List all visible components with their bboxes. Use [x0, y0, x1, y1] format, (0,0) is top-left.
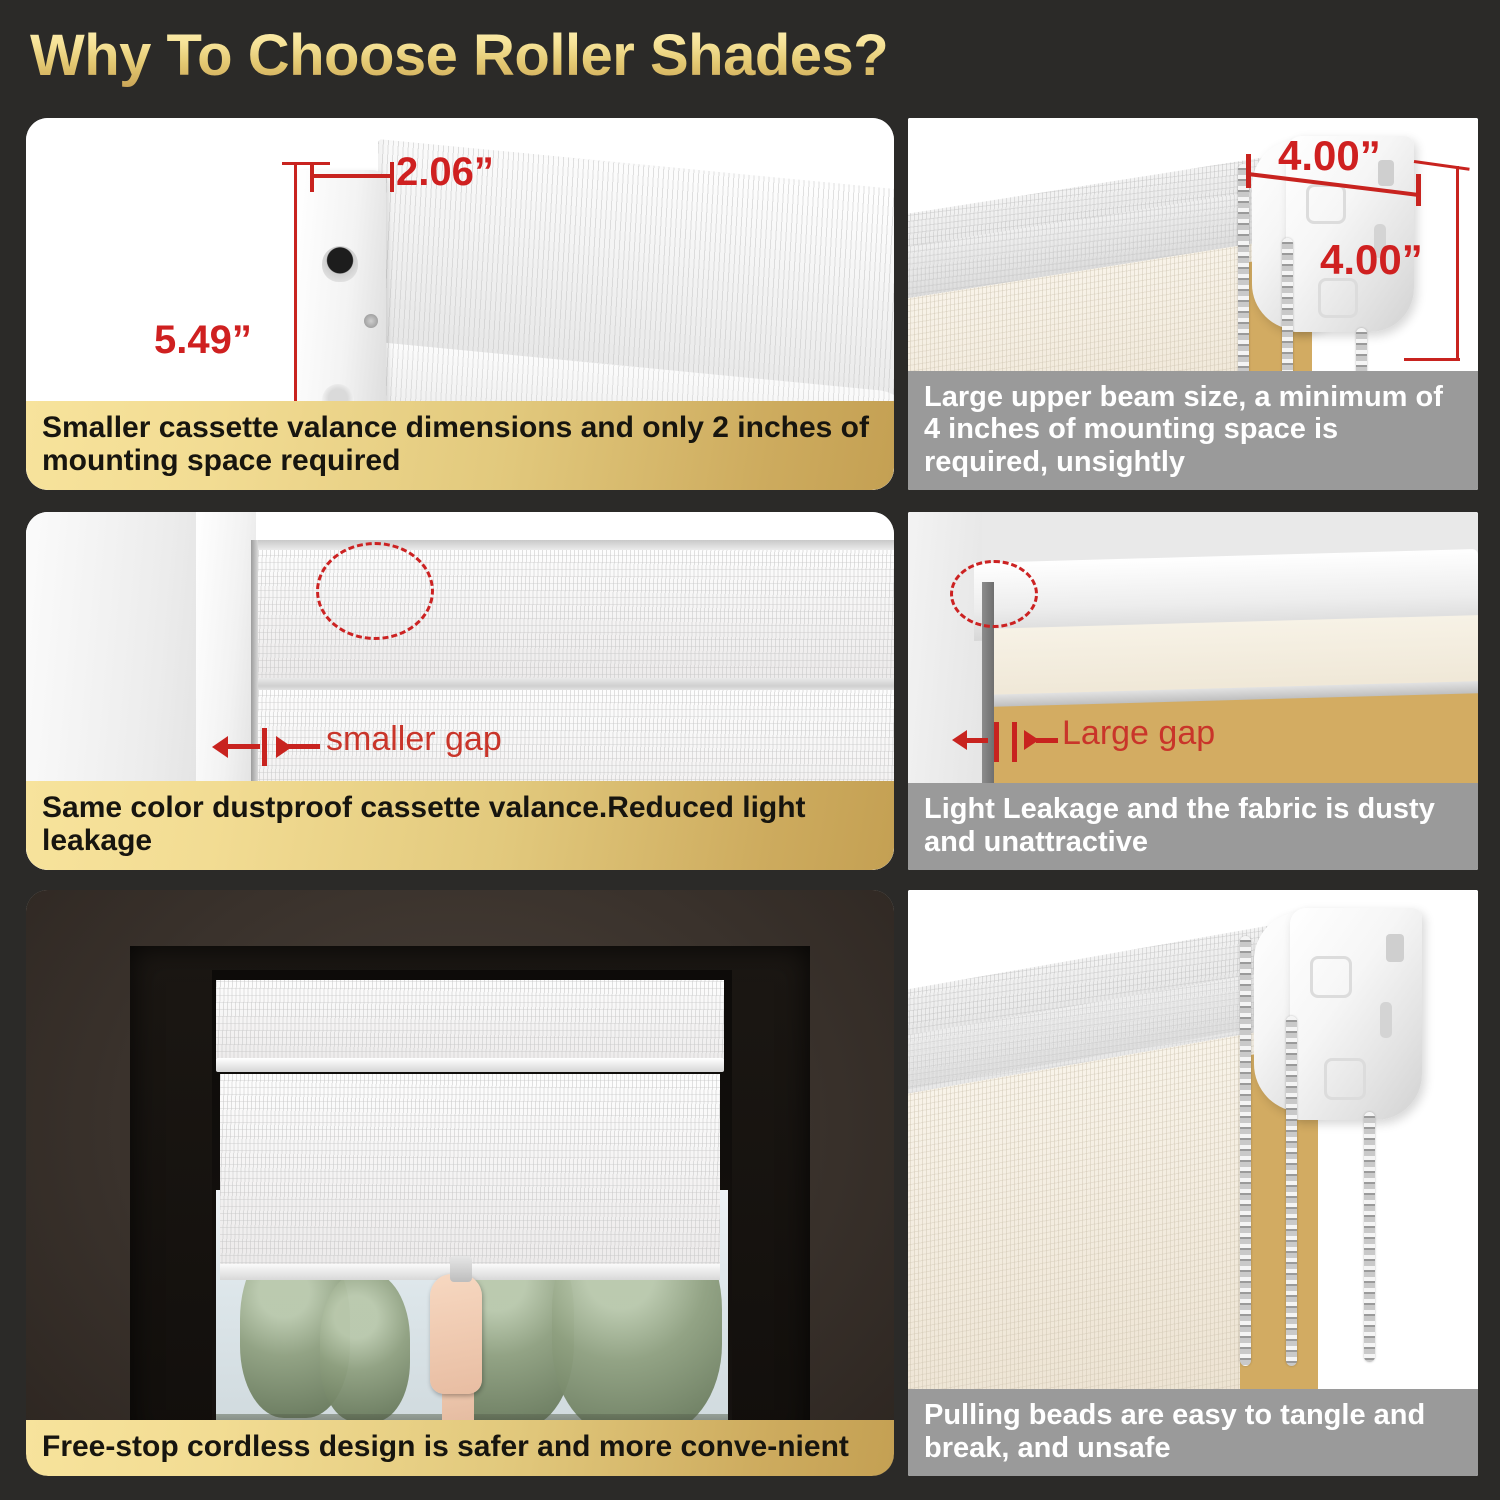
gap-arrow-right-shaft: [288, 744, 320, 749]
dimension-label-height: 5.49”: [154, 318, 252, 363]
bracket-emboss-bottom: [1324, 1058, 1366, 1100]
bead-chain-left: [1240, 936, 1251, 1366]
panel-caption: Large upper beam size, a minimum of 4 in…: [908, 371, 1478, 490]
highlight-ellipse-icon: [316, 542, 434, 640]
bracket-emboss-top: [1310, 956, 1352, 998]
gap-tick-left: [994, 722, 999, 762]
comparison-panel-smaller-gap: smaller gap Same color dustproof cassett…: [26, 512, 894, 870]
bracket-hole: [322, 246, 358, 282]
comparison-panel-cassette-dimensions: 2.06” 5.49” Smaller cassette valance dim…: [26, 118, 894, 490]
dim-line-horizontal: [312, 174, 394, 178]
gap-arrow-left-head-icon: [212, 736, 228, 758]
dim-cap-bottom: [1404, 358, 1460, 361]
pull-tab: [450, 1256, 472, 1282]
gap-label: smaller gap: [326, 720, 502, 759]
gap-arrow-left-shaft: [964, 738, 988, 743]
comparison-panel-pulling-beads: Pulling beads are easy to tangle and bre…: [908, 890, 1478, 1476]
panel-caption: Pulling beads are easy to tangle and bre…: [908, 1389, 1478, 1476]
gap-label: Large gap: [1062, 714, 1215, 753]
highlight-ellipse-icon: [950, 560, 1038, 628]
shade-fabric: [220, 1074, 720, 1270]
bracket-slot-top: [1386, 934, 1404, 962]
dimension-label-width: 2.06”: [396, 150, 494, 195]
dimension-label-height: 4.00”: [1320, 236, 1423, 284]
bead-chain-mid: [1286, 1016, 1297, 1366]
panel-caption: Light Leakage and the fabric is dusty an…: [908, 783, 1478, 870]
cassette-valance: [216, 980, 724, 1066]
dim-tick-right: [1416, 174, 1421, 206]
gap-tick: [262, 728, 267, 766]
valance-bottom-lip: [216, 1058, 724, 1072]
hand: [430, 1274, 482, 1394]
product-photo-window-scene: [26, 890, 894, 1476]
panel-caption: Same color dustproof cassette valance.Re…: [26, 781, 894, 870]
dim-line-vertical: [1456, 166, 1459, 360]
dim-cap-top: [282, 162, 330, 165]
gap-arrow-left-head-icon: [952, 730, 967, 750]
page-title: Why To Choose Roller Shades?: [30, 22, 888, 89]
comparison-panel-large-gap: Large gap Light Leakage and the fabric i…: [908, 512, 1478, 870]
panel-caption: Smaller cassette valance dimensions and …: [26, 401, 894, 490]
bracket-slot-bottom: [1380, 1002, 1392, 1038]
gap-tick-right: [1012, 722, 1017, 762]
dim-cap-top: [1414, 160, 1470, 171]
comparison-panel-large-beam: 4.00” 4.00” Large upper beam size, a min…: [908, 118, 1478, 490]
panel-caption: Free-stop cordless design is safer and m…: [26, 1420, 894, 1476]
tree-left-2: [320, 1272, 410, 1422]
dim-tick-left: [1246, 154, 1251, 188]
bracket-emboss-top: [1306, 184, 1346, 224]
bead-chain-right: [1364, 1112, 1375, 1362]
dimension-label-width: 4.00”: [1278, 132, 1381, 180]
gap-edge: [251, 540, 258, 820]
comparison-panel-cordless-design: Free-stop cordless design is safer and m…: [26, 890, 894, 1476]
dim-tick-right: [390, 162, 394, 192]
bracket-screw-upper: [364, 314, 378, 328]
gap-arrow-right-shaft: [1036, 738, 1058, 743]
bracket-emboss-bottom: [1318, 278, 1358, 318]
